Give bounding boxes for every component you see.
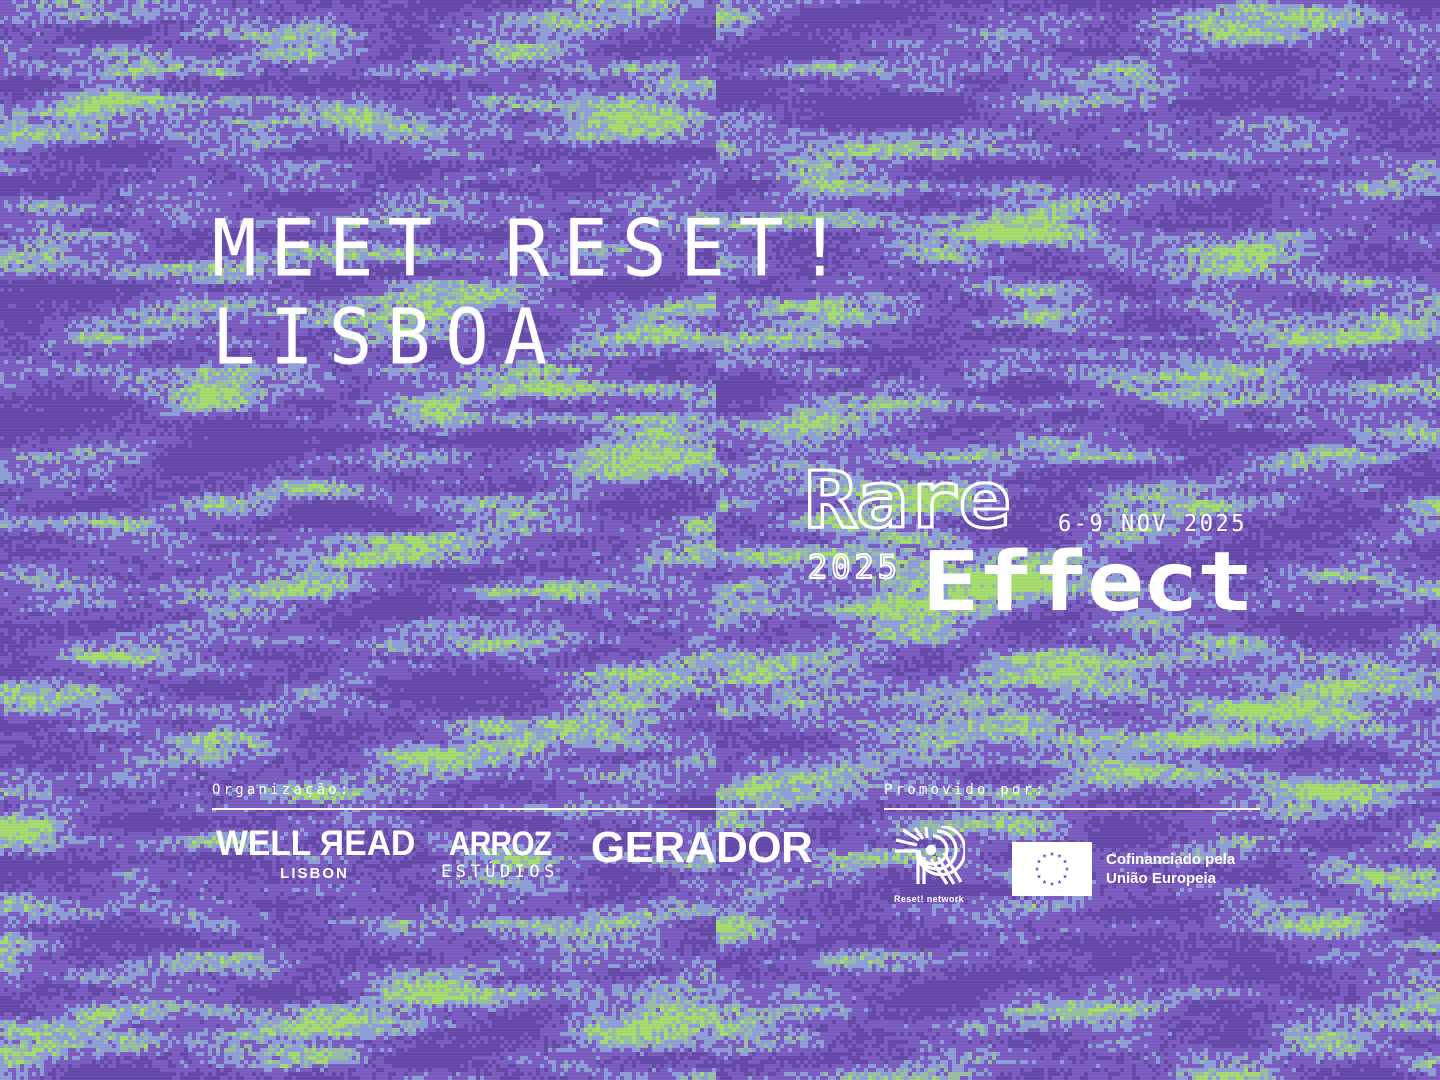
eu-funding-line-2: União Europeia [1106,869,1235,888]
credits-column-organizacao: Organização: WELL READ LISBON ARROZ ESTÚ… [212,782,792,882]
eu-funding-text: Cofinanciado pela União Europeia [1106,850,1235,888]
lockup-word-effect: Effect [922,540,1252,626]
organizacao-logo-row: WELL READ LISBON ARROZ ESTÚDIOS GERADOR [212,826,792,882]
promovido-logo-row: Reset! network Cofinanciado pela Un [884,826,1264,904]
eu-funding-line-1: Cofinanciado pela [1106,850,1235,869]
title-line-1: MEET RESET! [212,200,856,298]
event-dates: 6-9 NOV 2025 [1058,512,1247,537]
organizacao-divider [212,808,784,810]
eu-flag-icon [1012,842,1092,896]
credits-band: Organização: WELL READ LISBON ARROZ ESTÚ… [0,782,1440,912]
arroz-wordmark: ARROZ [448,827,552,861]
rare-effect-lockup: Rare 6-9 NOV 2025 2025 Effect [800,462,1270,642]
poster-content: MEET RESET! LISBOA Rare 6-9 NOV 2025 202… [0,0,1440,1080]
logo-arroz-estudios: ARROZ ESTÚDIOS [441,827,559,882]
well-read-wordmark: WELL READ [216,826,413,862]
promovido-divider [884,808,1260,810]
logo-reset-network: Reset! network [884,826,974,904]
well-read-w: W [216,824,248,863]
title-line-2: LISBOA [212,288,856,386]
well-read-city: LISBON [212,865,417,882]
arroz-subtitle: ESTÚDIOS [441,862,559,882]
logo-european-union: Cofinanciado pela União Europeia [1012,842,1235,904]
poster-title: MEET RESET! LISBOA [212,200,856,380]
reset-network-icon [893,873,965,892]
poster-canvas: MEET RESET! LISBOA Rare 6-9 NOV 2025 202… [0,0,1440,1080]
lockup-word-rare: Rare [804,462,1010,540]
reset-network-caption: Reset! network [884,894,974,904]
gerador-wordmark: GERADOR [591,826,801,870]
organizacao-label: Organização: [212,782,792,798]
logo-well-read-lisbon: WELL READ LISBON [212,826,417,882]
logo-gerador: GERADOR [591,826,801,882]
lockup-year: 2025 [808,550,901,584]
credits-column-promovido: Promovido por: [884,782,1264,904]
promovido-label: Promovido por: [884,782,1264,798]
well-read-ell: ELL [248,824,320,863]
well-read-ead: EAD [344,824,415,863]
well-read-mirrored-r: R [320,826,344,862]
